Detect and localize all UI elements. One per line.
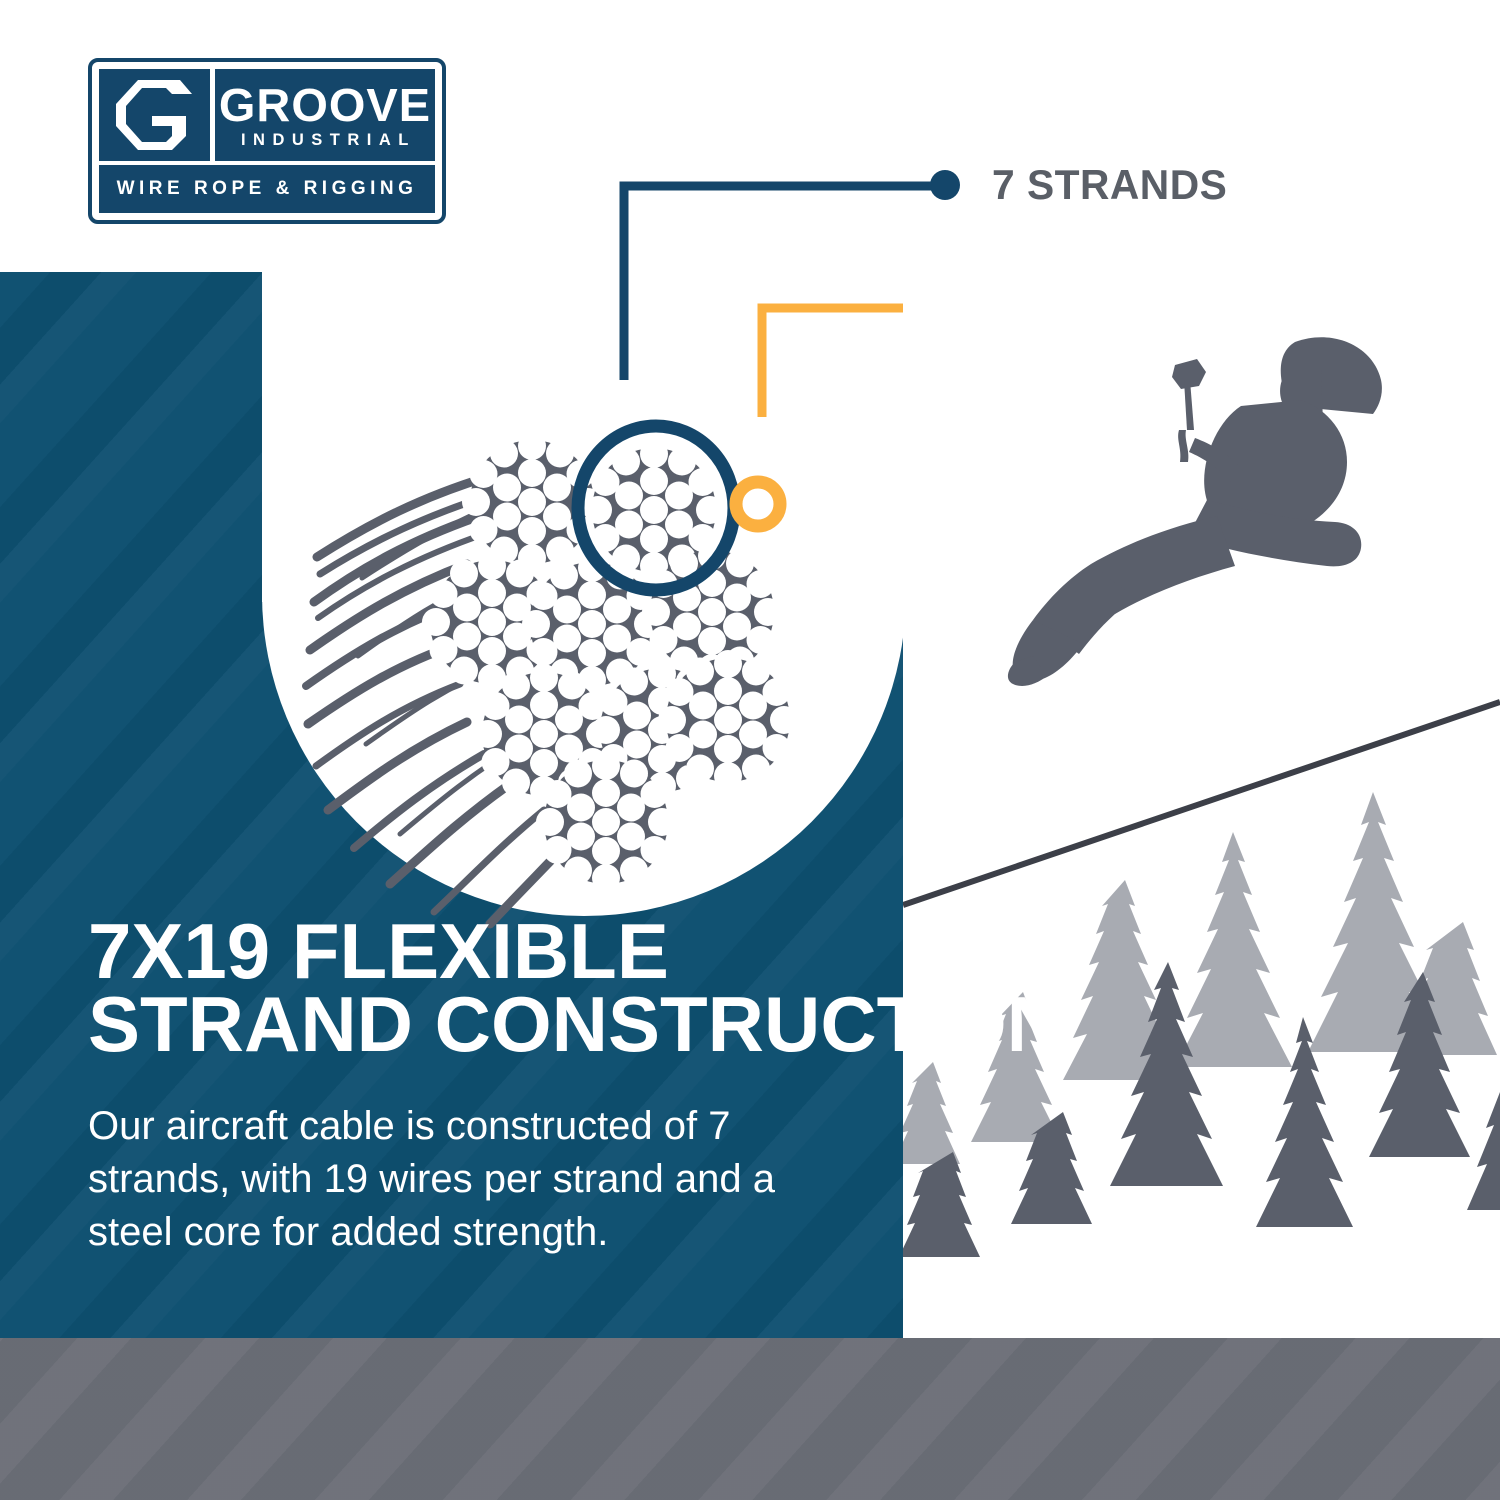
logo-tagline-box: WIRE ROPE & RIGGING xyxy=(99,165,435,213)
zipline-cable xyxy=(903,702,1500,905)
groove-g-icon xyxy=(114,78,194,152)
headline-line-1: 7X19 FLEXIBLE xyxy=(88,915,878,988)
logo-subbrand-text: INDUSTRIAL xyxy=(241,132,416,149)
brand-logo: GROOVE INDUSTRIAL WIRE ROPE & RIGGING xyxy=(88,58,446,224)
zipline-rider xyxy=(1008,337,1382,686)
footer-band xyxy=(0,1338,1500,1500)
infographic-canvas: 7 STRANDS 19 WIRES PER STRAND HOT DIP GA… xyxy=(0,0,1500,1500)
logo-tagline-text: WIRE ROPE & RIGGING xyxy=(117,178,418,200)
headline-line-2: STRAND CONSTRUCTION xyxy=(88,988,878,1061)
wire-marker-ring xyxy=(736,482,780,526)
logo-wordmark-box: GROOVE INDUSTRIAL xyxy=(215,69,435,161)
page-title: 7X19 FLEXIBLE STRAND CONSTRUCTION xyxy=(88,915,878,1060)
footer-wave-texture xyxy=(0,1338,1500,1500)
logo-brand-text: GROOVE xyxy=(219,82,431,128)
callout-dot-navy xyxy=(930,170,960,200)
callout-label-strands: 7 STRANDS xyxy=(992,161,1227,209)
callout-item-strands: 7 STRANDS xyxy=(930,155,1235,215)
logo-mark-box xyxy=(99,69,210,161)
text-block: 7X19 FLEXIBLE STRAND CONSTRUCTION Our ai… xyxy=(88,915,878,1260)
zipline-scene xyxy=(903,272,1500,1338)
body-paragraph: Our aircraft cable is constructed of 7 s… xyxy=(88,1100,788,1260)
